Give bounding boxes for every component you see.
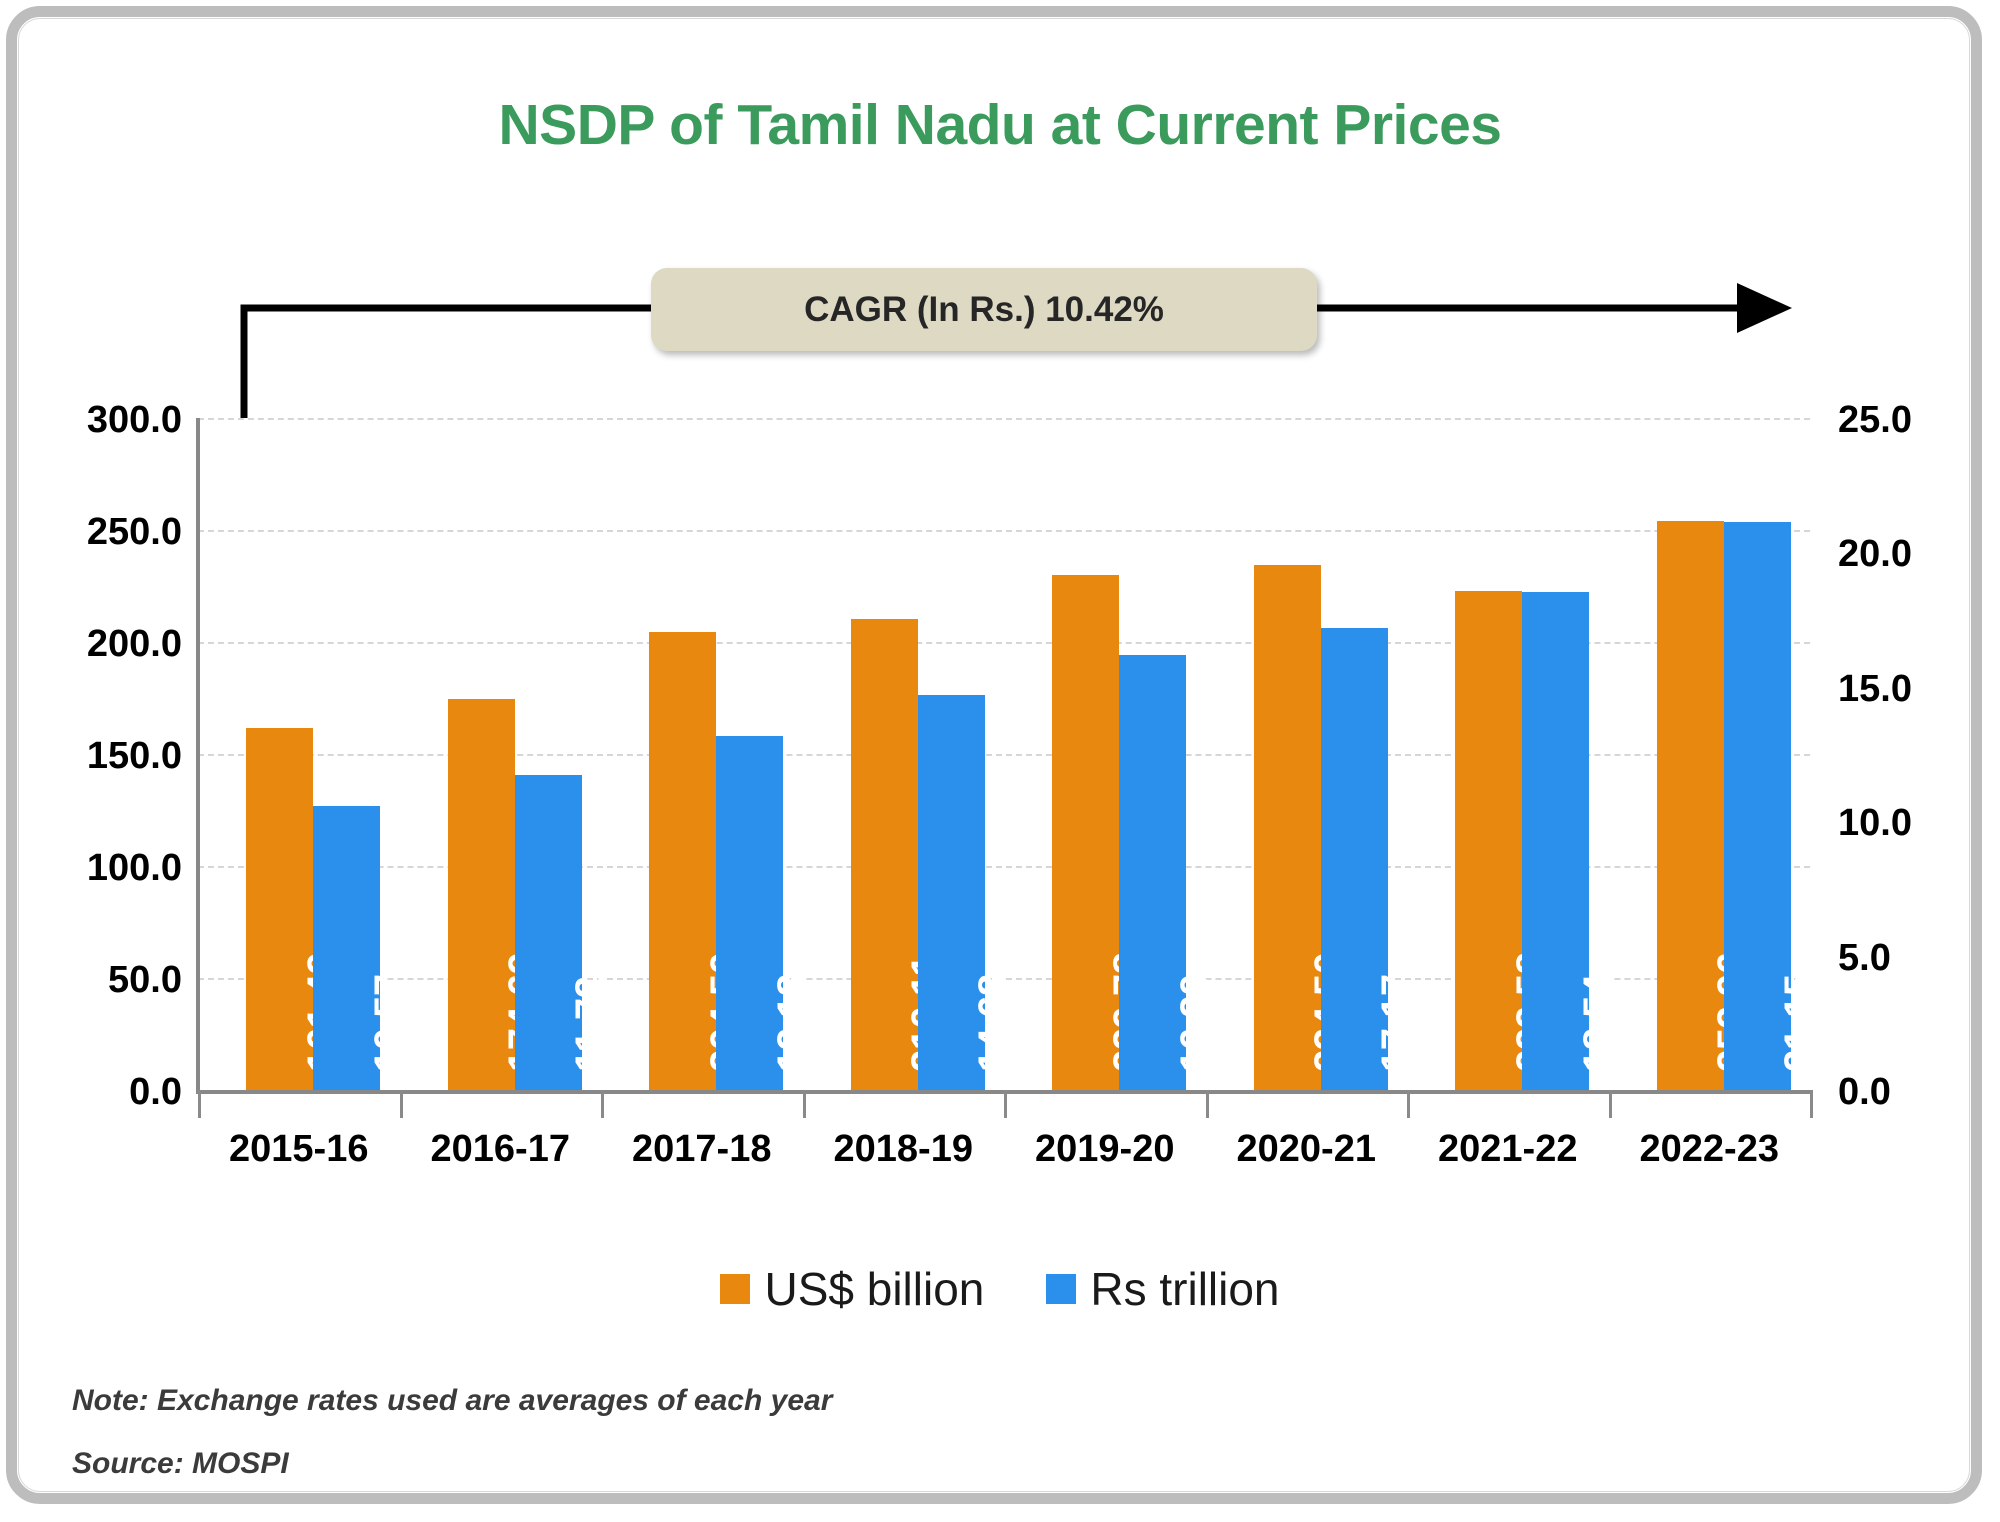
y-axis-left-tick-200: 200.0	[0, 623, 182, 666]
bar-rs-trillion[interactable]: 21.15	[1724, 522, 1791, 1091]
y-axis-right-tick-20: 20.0	[1838, 533, 2000, 576]
source-text: Source: MOSPI	[72, 1447, 289, 1481]
bar-group: 204.5013.18	[601, 418, 803, 1090]
x-axis-label: 2022-23	[1609, 1128, 1811, 1171]
y-axis-left-tick-100: 100.0	[0, 847, 182, 890]
y-axis-right-tick-10: 10.0	[1838, 802, 2000, 845]
bar-us-billion[interactable]: 253.96	[1657, 521, 1724, 1090]
legend-swatch-blue	[1046, 1274, 1076, 1304]
legend-swatch-orange	[720, 1274, 750, 1304]
legend-label: Rs trillion	[1090, 1262, 1279, 1316]
bar-us-billion[interactable]: 222.58	[1455, 591, 1522, 1090]
bar-group: 222.5818.54	[1407, 418, 1609, 1090]
legend-item-rs-trillion[interactable]: Rs trillion	[1046, 1262, 1279, 1316]
x-axis-label: 2015-16	[198, 1128, 400, 1171]
bar-group: 229.7816.20	[1004, 418, 1206, 1090]
bar-group: 174.6911.72	[400, 418, 602, 1090]
y-axis-right-tick-25: 25.0	[1838, 399, 2000, 442]
bar-group: 161.4910.57	[198, 418, 400, 1090]
y-axis-right-tick-15: 15.0	[1838, 668, 2000, 711]
bar-group: 210.1114.68	[803, 418, 1005, 1090]
bar-us-billion[interactable]: 229.78	[1052, 575, 1119, 1090]
x-axis-label: 2016-17	[400, 1128, 602, 1171]
legend: US$ billion Rs trillion	[0, 1262, 2000, 1316]
bar-rs-trillion[interactable]: 18.54	[1522, 592, 1589, 1090]
y-axis-left-tick-50: 50.0	[0, 959, 182, 1002]
x-axis-tick	[601, 1090, 604, 1118]
bar-group: 253.9621.15	[1609, 418, 1811, 1090]
bar-us-billion[interactable]: 210.11	[851, 619, 918, 1090]
y-axis-left-tick-0: 0.0	[0, 1071, 182, 1114]
note-text: Note: Exchange rates used are averages o…	[72, 1384, 832, 1418]
bar-rs-trillion[interactable]: 11.72	[515, 775, 582, 1090]
bar-rs-trillion[interactable]: 10.57	[313, 806, 380, 1090]
bar-us-billion[interactable]: 174.69	[448, 699, 515, 1090]
y-axis-left-tick-300: 300.0	[0, 399, 182, 442]
legend-item-us-billion[interactable]: US$ billion	[720, 1262, 984, 1316]
x-axis-tick	[1810, 1090, 1813, 1118]
x-axis-label: 2018-19	[803, 1128, 1005, 1171]
x-axis-label: 2020-21	[1206, 1128, 1408, 1171]
bar-rs-trillion[interactable]: 16.20	[1119, 655, 1186, 1090]
x-axis-tick	[400, 1090, 403, 1118]
y-axis-right-tick-5: 5.0	[1838, 937, 2000, 980]
x-axis-tick	[803, 1090, 806, 1118]
cagr-banner: CAGR (In Rs.) 10.42%	[651, 268, 1317, 351]
x-axis-tick	[198, 1090, 201, 1118]
y-axis-right-tick-0: 0.0	[1838, 1071, 2000, 1114]
bar-us-billion[interactable]: 234.50	[1254, 565, 1321, 1090]
x-axis-tick	[1609, 1090, 1612, 1118]
bar-us-billion[interactable]: 161.49	[246, 728, 313, 1090]
chart-page: NSDP of Tamil Nadu at Current Prices CAG…	[0, 0, 2000, 1522]
bar-group: 234.5017.17	[1206, 418, 1408, 1090]
page-title: NSDP of Tamil Nadu at Current Prices	[0, 92, 2000, 158]
x-axis-tick	[1407, 1090, 1410, 1118]
plot-area: 161.4910.57174.6911.72204.5013.18210.111…	[198, 418, 1810, 1090]
bar-rs-trillion[interactable]: 13.18	[716, 736, 783, 1090]
x-axis-label: 2021-22	[1407, 1128, 1609, 1171]
cagr-label: CAGR (In Rs.) 10.42%	[804, 290, 1164, 330]
bar-us-billion[interactable]: 204.50	[649, 632, 716, 1090]
x-axis-label: 2017-18	[601, 1128, 803, 1171]
bar-value-label: 21.15	[1777, 974, 1822, 1072]
bar-rs-trillion[interactable]: 14.68	[918, 695, 985, 1090]
x-axis-label: 2019-20	[1004, 1128, 1206, 1171]
x-axis-tick	[1004, 1090, 1007, 1118]
legend-label: US$ billion	[764, 1262, 984, 1316]
bar-rs-trillion[interactable]: 17.17	[1321, 628, 1388, 1090]
x-axis-tick	[1206, 1090, 1209, 1118]
y-axis-left-tick-250: 250.0	[0, 511, 182, 554]
y-axis-left-tick-150: 150.0	[0, 735, 182, 778]
